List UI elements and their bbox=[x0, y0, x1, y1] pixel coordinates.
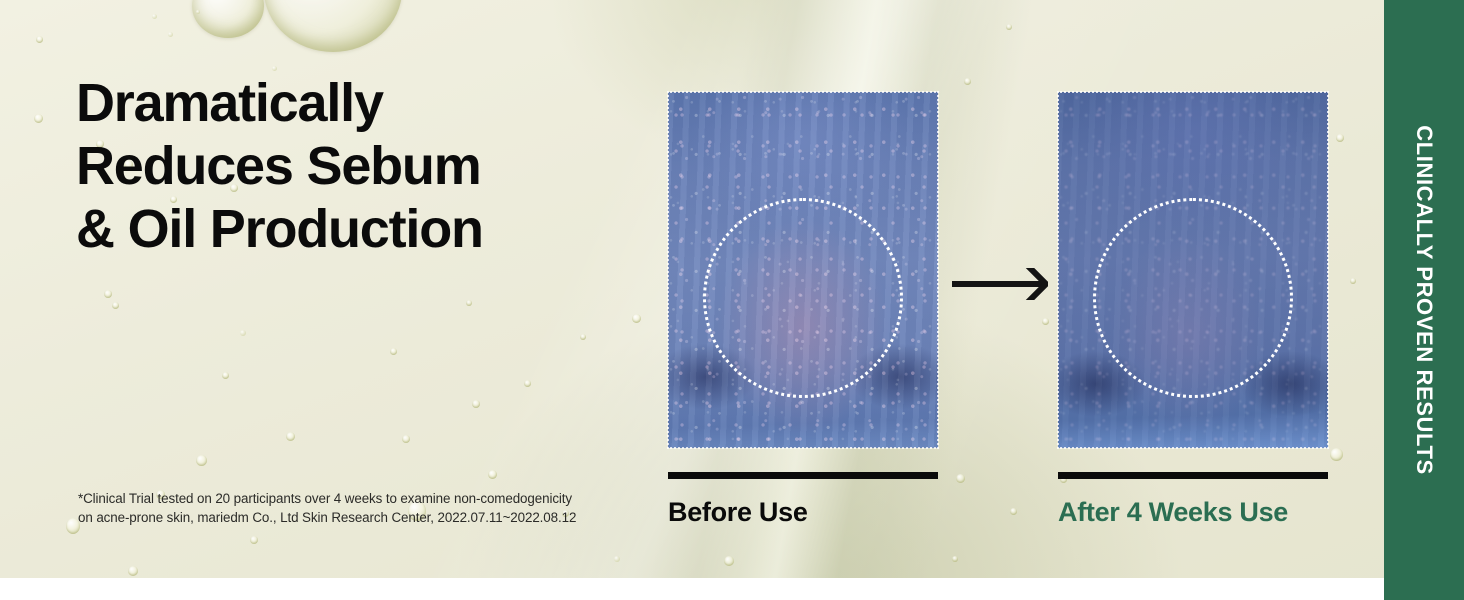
serum-bubble bbox=[272, 66, 277, 71]
sidebar-label: CLINICALLY PROVEN RESULTS bbox=[1411, 125, 1437, 475]
promo-banner: Dramatically Reduces Sebum & Oil Product… bbox=[0, 0, 1464, 600]
serum-bubble bbox=[390, 348, 397, 355]
serum-bubble bbox=[402, 435, 410, 443]
measurement-circle-overlay bbox=[1093, 198, 1293, 398]
serum-bubble bbox=[724, 556, 734, 566]
measurement-circle-overlay bbox=[703, 198, 903, 398]
serum-bubble bbox=[168, 32, 173, 37]
serum-bubble bbox=[104, 290, 112, 298]
clinical-trial-footnote: *Clinical Trial tested on 20 participant… bbox=[78, 489, 638, 527]
serum-bubble bbox=[36, 36, 43, 43]
serum-bubble bbox=[152, 14, 157, 19]
serum-bubble bbox=[1042, 318, 1049, 325]
serum-bubble bbox=[196, 455, 207, 466]
page-title: Dramatically Reduces Sebum & Oil Product… bbox=[76, 72, 676, 261]
serum-bubble bbox=[956, 474, 965, 483]
serum-bubble bbox=[286, 432, 295, 441]
serum-bubble bbox=[128, 566, 138, 576]
right-arrow-icon bbox=[952, 268, 1048, 300]
serum-bubble bbox=[34, 114, 43, 123]
serum-bubble bbox=[472, 400, 480, 408]
after-photo bbox=[1058, 92, 1328, 448]
serum-bubble bbox=[952, 556, 958, 562]
serum-bubble bbox=[250, 536, 258, 544]
serum-bubble bbox=[240, 330, 246, 336]
serum-bubble bbox=[1010, 508, 1017, 515]
serum-bubble bbox=[580, 334, 586, 340]
serum-bubble bbox=[1336, 134, 1344, 142]
before-caption-rule bbox=[668, 472, 938, 479]
serum-bubble bbox=[1006, 24, 1012, 30]
serum-bubble bbox=[614, 556, 620, 562]
serum-bubble bbox=[222, 372, 229, 379]
serum-bubble bbox=[196, 10, 200, 14]
serum-bubble bbox=[1330, 448, 1343, 461]
before-photo bbox=[668, 92, 938, 448]
after-caption: After 4 Weeks Use bbox=[1058, 497, 1288, 528]
serum-bubble bbox=[964, 78, 971, 85]
serum-bubble bbox=[466, 300, 472, 306]
before-caption: Before Use bbox=[668, 497, 808, 528]
clinically-proven-sidebar: CLINICALLY PROVEN RESULTS bbox=[1384, 0, 1464, 600]
serum-bubble bbox=[1350, 278, 1356, 284]
serum-bubble bbox=[632, 314, 641, 323]
serum-bubble bbox=[112, 302, 119, 309]
oil-droplet-large bbox=[192, 0, 264, 38]
serum-bubble bbox=[524, 380, 531, 387]
serum-bubble bbox=[488, 470, 497, 479]
after-caption-rule bbox=[1058, 472, 1328, 479]
bottom-white-strip bbox=[0, 578, 1384, 600]
oil-droplet-large bbox=[264, 0, 402, 52]
